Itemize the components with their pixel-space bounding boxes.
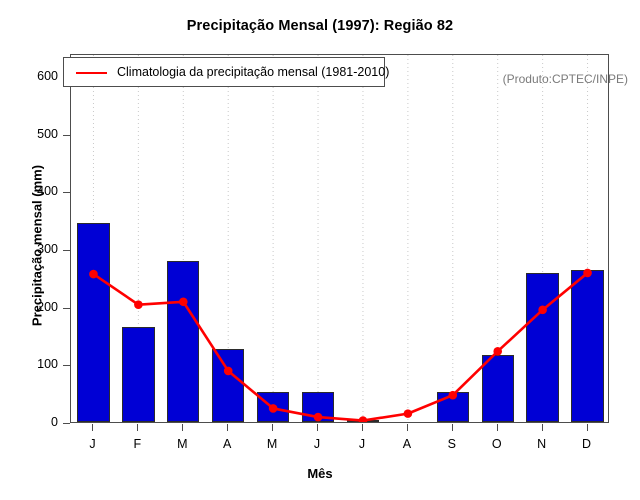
x-axis-title: Mês [0, 466, 640, 481]
x-tick-mark [317, 424, 318, 431]
x-tick-label-10: N [522, 437, 562, 451]
x-tick-label-6: J [342, 437, 382, 451]
climatology-point-f-1 [134, 300, 143, 309]
y-axis-title: Precipitação mensal (mm) [30, 106, 45, 386]
x-tick-mark [542, 424, 543, 431]
y-tick-mark [63, 308, 70, 309]
climatology-point-o-9 [493, 347, 502, 356]
x-tick-mark [407, 424, 408, 431]
y-tick-mark [63, 365, 70, 366]
x-tick-mark [497, 424, 498, 431]
plot-inner [71, 55, 608, 422]
x-tick-mark [137, 424, 138, 431]
y-tick-mark [63, 250, 70, 251]
x-tick-mark [92, 424, 93, 431]
climatology-point-a-7 [404, 409, 413, 418]
chart-title: Precipitação Mensal (1997): Região 82 [0, 18, 640, 34]
y-tick-mark [63, 135, 70, 136]
climatology-point-d-11 [583, 269, 592, 278]
x-tick-label-0: J [72, 437, 112, 451]
climatology-point-j-5 [314, 413, 323, 422]
x-tick-label-8: S [432, 437, 472, 451]
climatology-point-m-2 [179, 297, 188, 306]
y-tick-label: 0 [14, 415, 58, 429]
producer-watermark: (Produto:CPTEC/INPE) [503, 72, 628, 86]
x-tick-label-1: F [117, 437, 157, 451]
climatology-point-a-3 [224, 367, 233, 376]
y-tick-mark [63, 423, 70, 424]
x-tick-label-7: A [387, 437, 427, 451]
x-tick-mark [587, 424, 588, 431]
y-tick-label: 600 [14, 69, 58, 83]
x-tick-mark [452, 424, 453, 431]
x-tick-label-2: M [162, 437, 202, 451]
plot-area [70, 54, 609, 423]
legend: Climatologia da precipitação mensal (198… [63, 57, 385, 87]
chart-figure: Precipitação Mensal (1997): Região 82 01… [0, 0, 640, 500]
legend-line-marker-icon [76, 72, 107, 74]
x-tick-label-3: A [207, 437, 247, 451]
climatology-point-n-10 [538, 306, 547, 315]
y-tick-mark [63, 192, 70, 193]
x-tick-mark [272, 424, 273, 431]
legend-entry-label: Climatologia da precipitação mensal (198… [117, 65, 389, 79]
climatology-polyline [93, 273, 587, 421]
climatology-point-j-6 [359, 416, 368, 422]
climatology-line-series [71, 55, 608, 422]
x-tick-mark [227, 424, 228, 431]
x-tick-mark [182, 424, 183, 431]
x-tick-label-4: M [252, 437, 292, 451]
x-tick-label-9: O [477, 437, 517, 451]
x-tick-label-5: J [297, 437, 337, 451]
x-tick-mark [362, 424, 363, 431]
x-tick-label-11: D [567, 437, 607, 451]
climatology-point-j-0 [89, 270, 98, 279]
climatology-point-s-8 [448, 391, 457, 400]
climatology-point-m-4 [269, 404, 278, 413]
